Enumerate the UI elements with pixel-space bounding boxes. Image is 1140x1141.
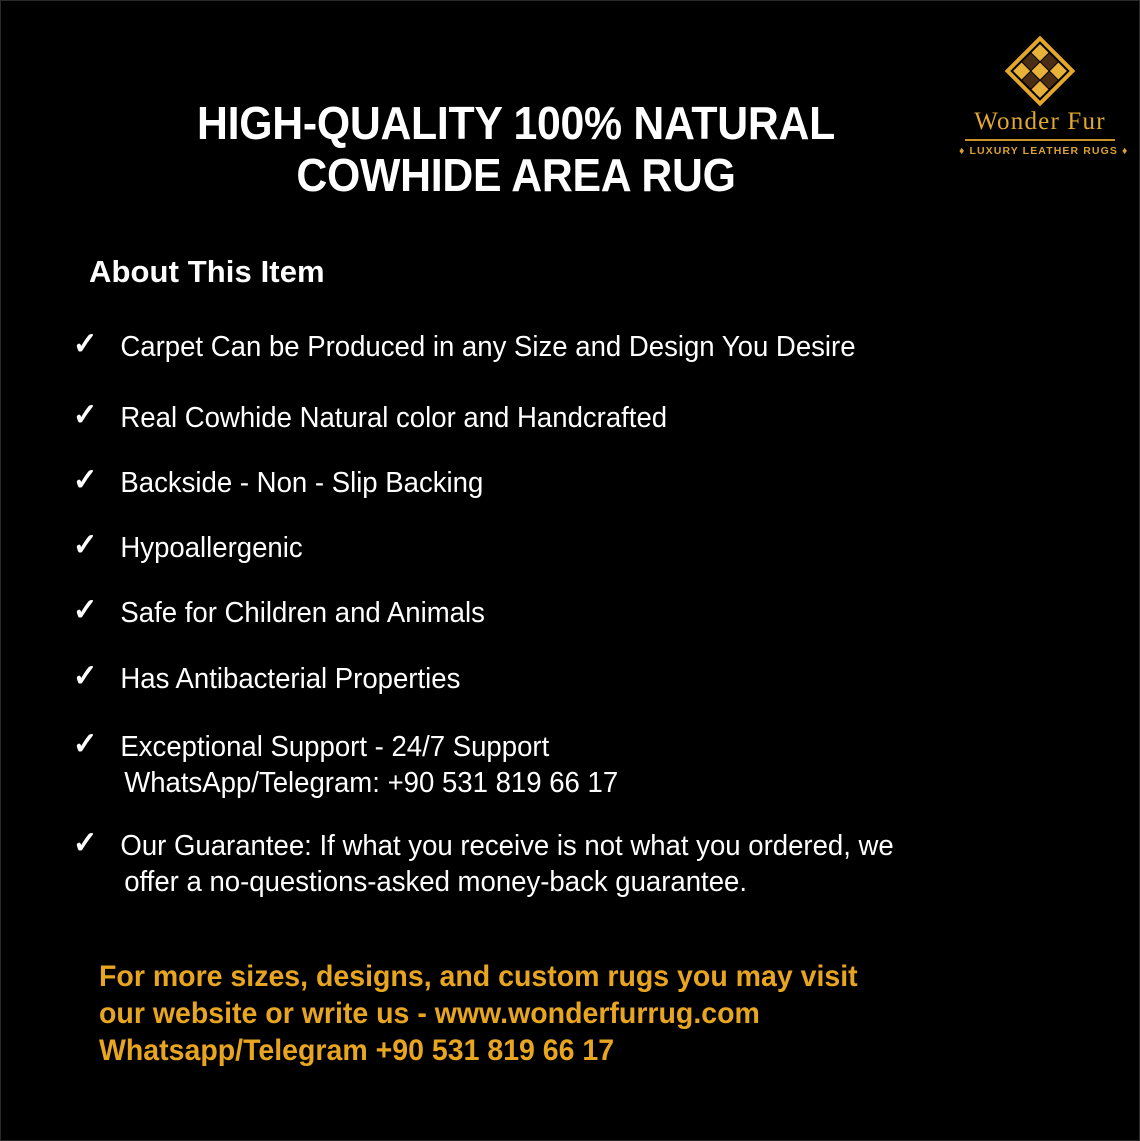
list-item: ✓ Our Guarantee: If what you receive is …	[71, 828, 1031, 900]
list-item-label: Safe for Children and Animals	[120, 595, 1030, 631]
list-item-label: Carpet Can be Produced in any Size and D…	[120, 329, 1030, 365]
check-icon: ✓	[73, 658, 98, 694]
brand-tagline: ♦ LUXURY LEATHER RUGS ♦	[959, 145, 1121, 157]
check-icon: ✓	[73, 462, 98, 498]
list-item-label: Backside - Non - Slip Backing	[120, 465, 1030, 501]
page-title-line-2: COWHIDE AREA RUG	[149, 149, 884, 201]
check-icon: ✓	[73, 726, 98, 762]
list-item: ✓ Safe for Children and Animals	[71, 595, 1031, 631]
diamond-checker-icon	[1005, 36, 1076, 107]
list-item-label: Our Guarantee: If what you receive is no…	[120, 828, 1030, 864]
list-item-label: Has Antibacterial Properties	[120, 661, 1030, 697]
footer-line-1: For more sizes, designs, and custom rugs…	[99, 958, 858, 995]
list-item: ✓ Hypoallergenic	[71, 530, 1031, 566]
list-item: ✓ Real Cowhide Natural color and Handcra…	[71, 400, 1031, 436]
brand-logo: Wonder Fur ♦ LUXURY LEATHER RUGS ♦	[959, 35, 1121, 163]
list-item-label: Real Cowhide Natural color and Handcraft…	[120, 400, 1030, 436]
check-icon: ✓	[73, 326, 98, 362]
list-item: ✓ Carpet Can be Produced in any Size and…	[71, 329, 1031, 365]
footer-line-3: Whatsapp/Telegram +90 531 819 66 17	[99, 1032, 858, 1069]
feature-list: ✓ Carpet Can be Produced in any Size and…	[71, 329, 1081, 900]
check-icon: ✓	[73, 592, 98, 628]
list-item: ✓ Has Antibacterial Properties	[71, 661, 1031, 697]
list-item: ✓ Exceptional Support - 24/7 Support Wha…	[71, 729, 1031, 801]
check-icon: ✓	[73, 825, 98, 861]
logo-diamond-icon-wrap	[959, 35, 1121, 107]
footer-contact-block: For more sizes, designs, and custom rugs…	[99, 958, 858, 1069]
promo-banner: Wonder Fur ♦ LUXURY LEATHER RUGS ♦ HIGH-…	[0, 0, 1140, 1141]
list-item-label-line-2: WhatsApp/Telegram: +90 531 819 66 17	[120, 765, 1030, 801]
footer-line-2: our website or write us - www.wonderfurr…	[99, 995, 858, 1032]
logo-divider	[965, 139, 1115, 141]
about-this-item-heading: About This Item	[89, 254, 325, 290]
check-icon: ✓	[73, 397, 98, 433]
page-title-line-1: HIGH-QUALITY 100% NATURAL	[149, 97, 884, 149]
brand-name: Wonder Fur	[959, 109, 1121, 134]
list-item-label-line-2: offer a no-questions-asked money-back gu…	[120, 864, 1030, 900]
list-item: ✓ Backside - Non - Slip Backing	[71, 465, 1031, 501]
page-title: HIGH-QUALITY 100% NATURAL COWHIDE AREA R…	[149, 97, 884, 201]
list-item-label: Exceptional Support - 24/7 Support	[120, 729, 1030, 765]
list-item-label: Hypoallergenic	[120, 530, 1030, 566]
check-icon: ✓	[73, 527, 98, 563]
